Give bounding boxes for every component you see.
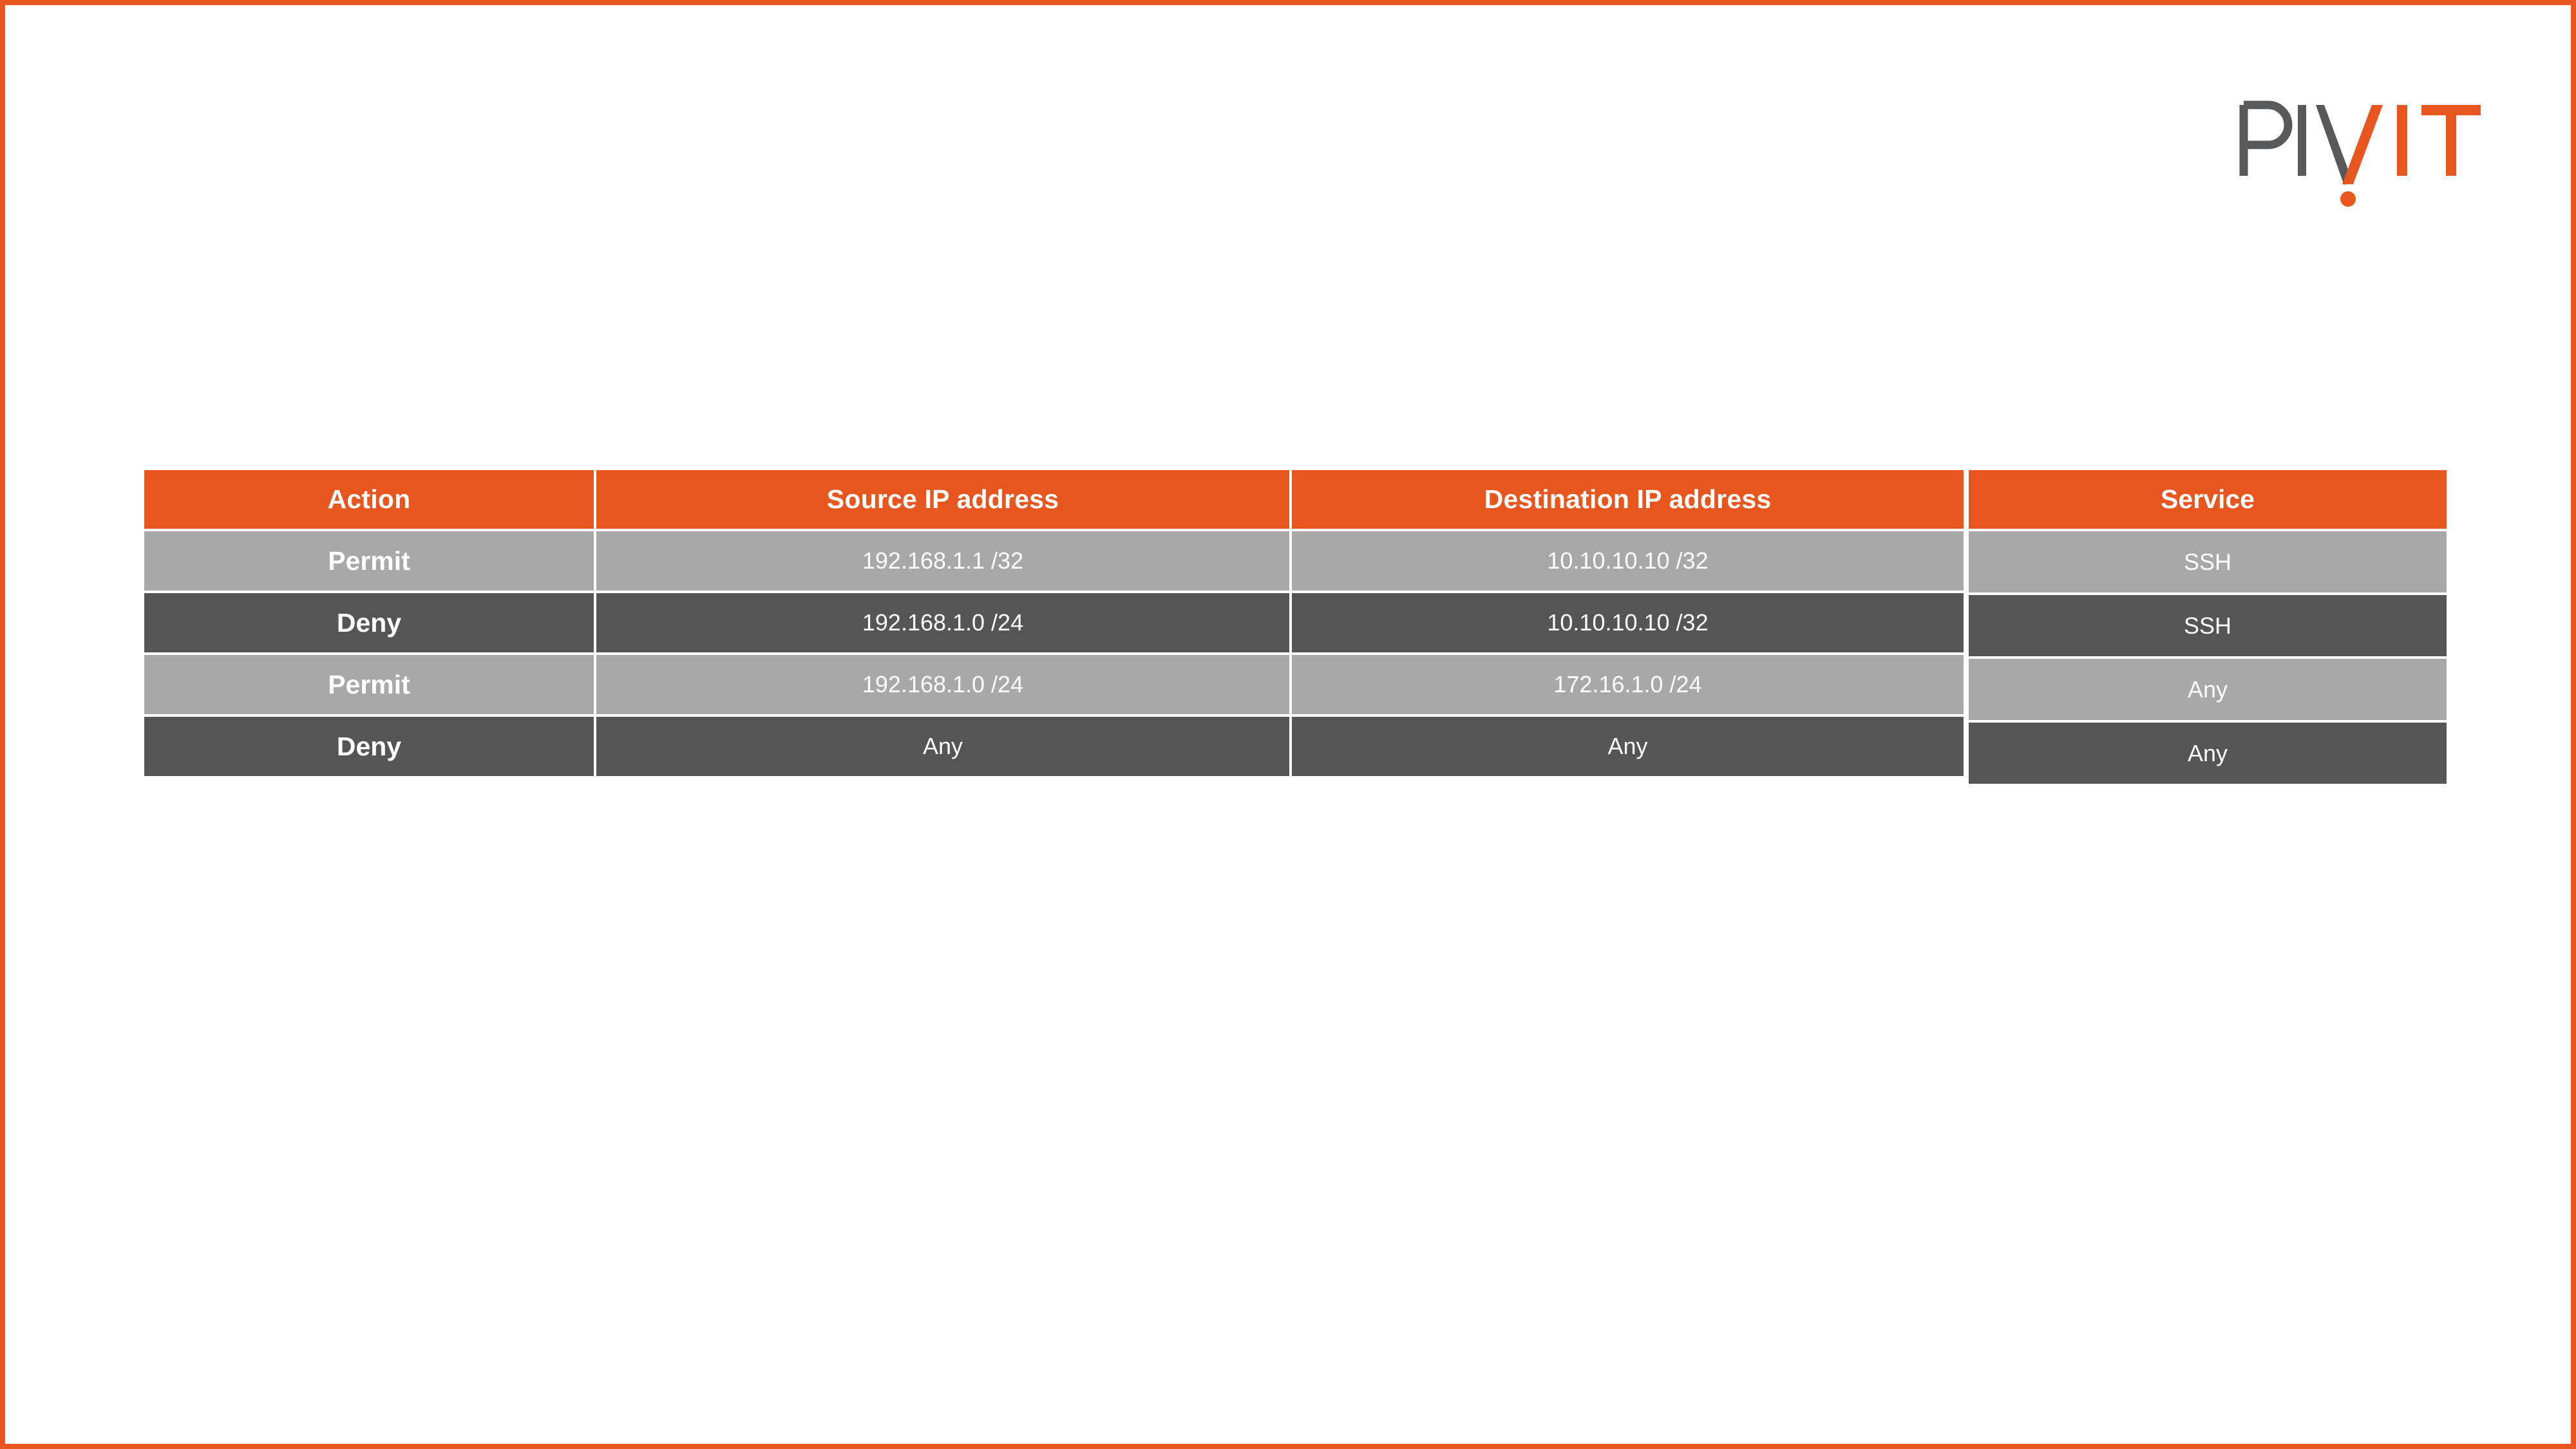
cell-destination-ip: 172.16.1.0 /24 xyxy=(1292,655,1966,717)
cell-service: Any xyxy=(1966,723,2447,786)
cell-action: Permit xyxy=(144,655,596,717)
cell-destination-ip: Any xyxy=(1292,717,1966,779)
page-frame: Action Source IP address Destination IP … xyxy=(0,0,2576,1449)
cell-action: Deny xyxy=(144,717,596,779)
logo-letter-v-right-accent xyxy=(2342,105,2383,184)
cell-service: Any xyxy=(1966,659,2447,723)
cell-destination-ip: 10.10.10.10 /32 xyxy=(1292,593,1966,655)
logo-letter-v-left xyxy=(2316,105,2349,185)
pivit-logo xyxy=(2231,89,2488,218)
column-header-service: Service xyxy=(1966,470,2447,531)
cell-source-ip: Any xyxy=(596,717,1292,779)
column-header-action: Action xyxy=(144,470,596,531)
cell-service: SSH xyxy=(1966,595,2447,659)
logo-letter-p xyxy=(2244,105,2288,176)
logo-accent-dot xyxy=(2340,191,2356,207)
cell-action: Permit xyxy=(144,531,596,593)
cell-action: Deny xyxy=(144,593,596,655)
logo-letter-t-stem xyxy=(2446,105,2456,176)
cell-destination-ip: 10.10.10.10 /32 xyxy=(1292,531,1966,593)
cell-source-ip: 192.168.1.0 /24 xyxy=(596,593,1292,655)
column-header-source-ip: Source IP address xyxy=(596,470,1292,531)
logo-letter-i-dark xyxy=(2298,105,2306,176)
service-column: Service SSH SSH Any Any xyxy=(1966,470,2447,787)
logo-letter-i-accent xyxy=(2397,105,2407,176)
cell-source-ip: 192.168.1.1 /32 xyxy=(596,531,1292,593)
cell-source-ip: 192.168.1.0 /24 xyxy=(596,655,1292,717)
column-header-destination-ip: Destination IP address xyxy=(1292,470,1966,531)
cell-service: SSH xyxy=(1966,531,2447,595)
